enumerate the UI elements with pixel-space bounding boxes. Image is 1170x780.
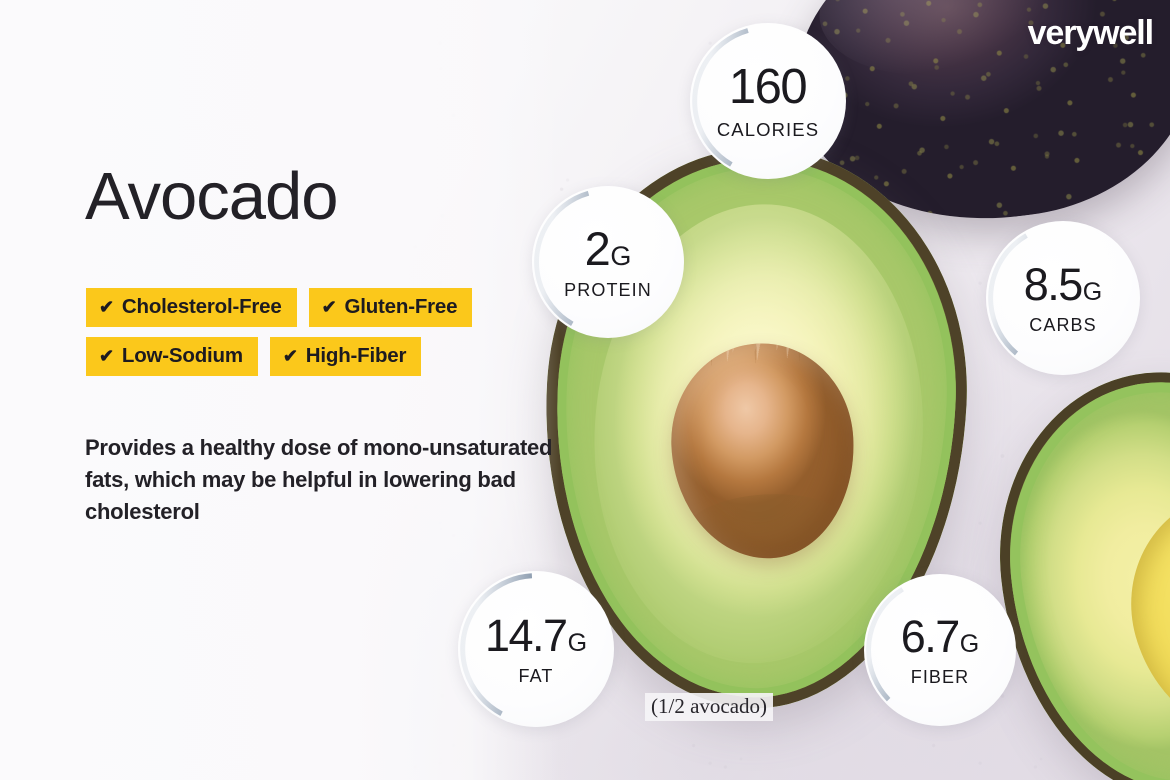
nutrition-label: FAT xyxy=(519,667,554,685)
badge-label: High-Fiber xyxy=(306,344,407,368)
nutrition-label: CALORIES xyxy=(717,121,819,140)
value-number: 160 xyxy=(729,63,806,112)
badge-row-1: ✔ Cholesterol-Free ✔ Gluten-Free xyxy=(86,288,556,327)
nutrition-label: PROTEIN xyxy=(564,281,652,299)
nutrition-bubble-carbs: 8.5 G CARBS xyxy=(986,221,1140,375)
check-icon: ✔ xyxy=(322,298,337,316)
nutrition-value: 6.7 G xyxy=(901,614,980,659)
badge-gluten-free: ✔ Gluten-Free xyxy=(309,288,473,327)
badge-label: Cholesterol-Free xyxy=(122,295,282,319)
value-number: 2 xyxy=(585,225,610,272)
badge-row-2: ✔ Low-Sodium ✔ High-Fiber xyxy=(86,337,556,376)
check-icon: ✔ xyxy=(283,347,298,365)
check-icon: ✔ xyxy=(99,298,114,316)
badge-label: Low-Sodium xyxy=(122,344,243,368)
verywell-logo[interactable]: verywell xyxy=(1028,14,1153,53)
value-unit: G xyxy=(960,632,979,657)
value-unit: G xyxy=(610,243,631,270)
value-number: 6.7 xyxy=(901,614,959,659)
badge-label: Gluten-Free xyxy=(344,295,457,319)
serving-size-note: (1/2 avocado) xyxy=(645,693,773,721)
nutrition-label: CARBS xyxy=(1029,316,1097,334)
infographic-canvas: verywell Avocado ✔ Cholesterol-Free ✔ Gl… xyxy=(0,0,1170,780)
badge-cholesterol-free: ✔ Cholesterol-Free xyxy=(86,288,297,327)
nutrition-bubble-calories: 160 CALORIES xyxy=(690,23,846,179)
nutrition-bubble-protein: 2 G PROTEIN xyxy=(532,186,684,338)
value-number: 8.5 xyxy=(1024,262,1082,307)
nutrition-bubble-fiber: 6.7 G FIBER xyxy=(864,574,1016,726)
check-icon: ✔ xyxy=(99,347,114,365)
nutrition-label: FIBER xyxy=(911,668,970,686)
page-title: Avocado xyxy=(85,163,338,230)
nutrition-value: 14.7 G xyxy=(485,613,587,658)
nutrition-value: 2 G xyxy=(585,225,632,272)
badge-high-fiber: ✔ High-Fiber xyxy=(270,337,421,376)
badge-low-sodium: ✔ Low-Sodium xyxy=(86,337,258,376)
value-number: 14.7 xyxy=(485,613,567,658)
nutrition-bubble-fat: 14.7 G FAT xyxy=(458,571,614,727)
nutrition-value: 8.5 G xyxy=(1024,262,1103,307)
value-unit: G xyxy=(1083,280,1102,305)
avocado-pit xyxy=(666,339,859,563)
description-text: Provides a healthy dose of mono-unsatura… xyxy=(85,432,553,528)
attribute-badge-group: ✔ Cholesterol-Free ✔ Gluten-Free ✔ Low-S… xyxy=(86,288,556,386)
value-unit: G xyxy=(568,631,587,656)
nutrition-value: 160 xyxy=(729,63,807,112)
